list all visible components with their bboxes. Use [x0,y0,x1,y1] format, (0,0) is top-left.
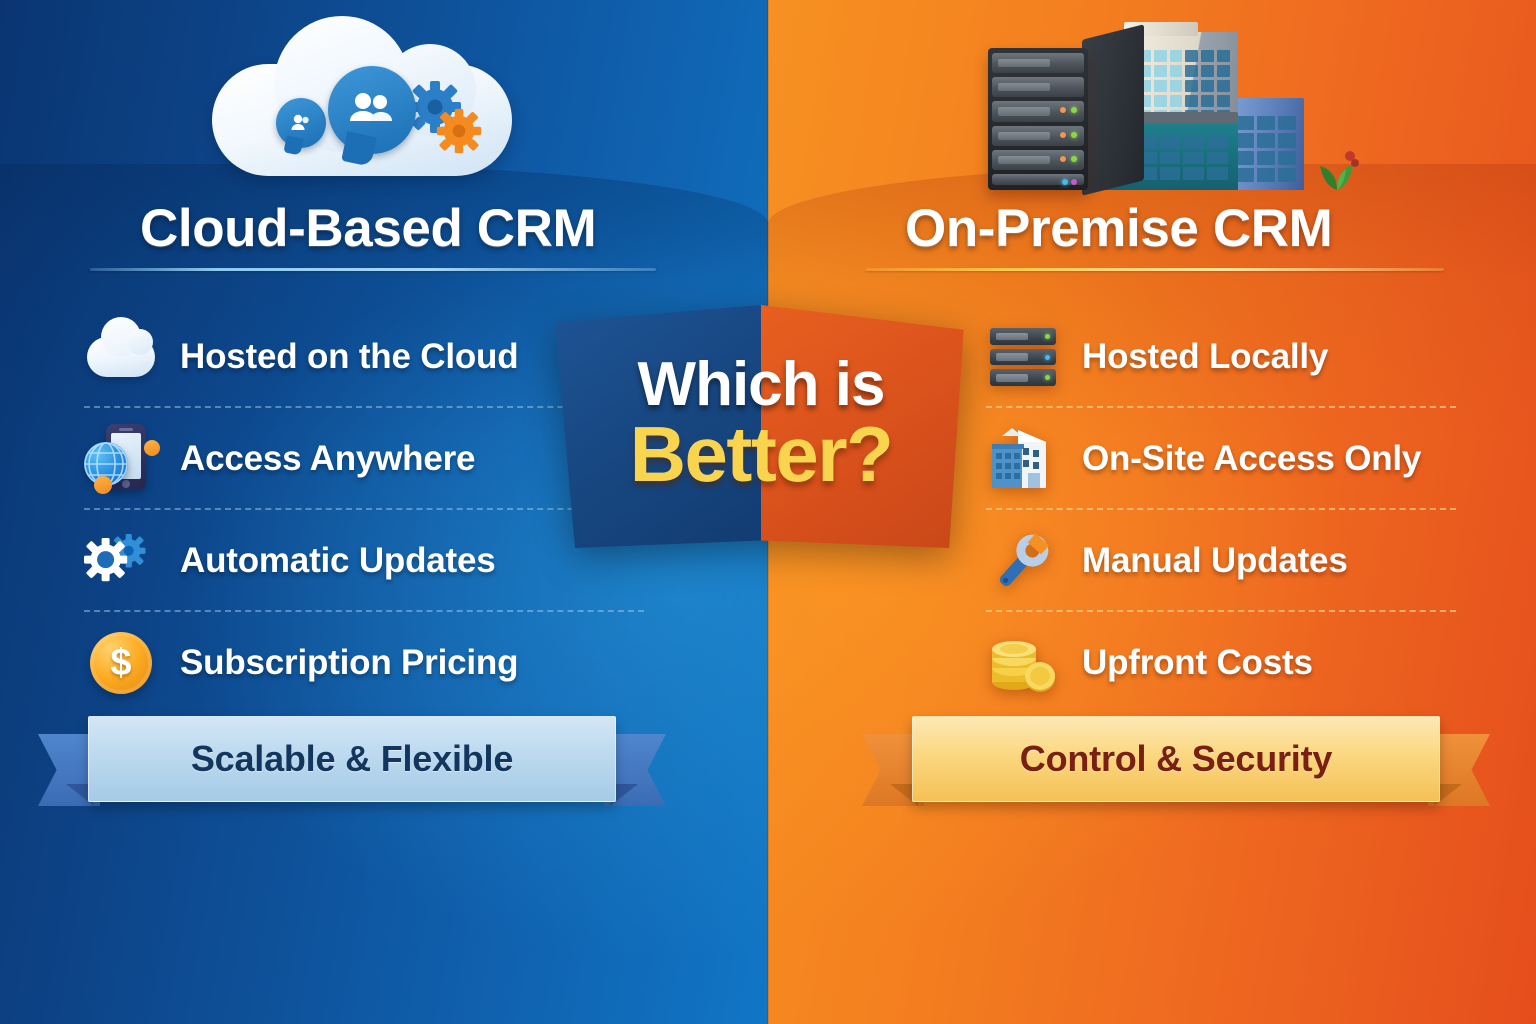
coin-stack-icon [986,626,1060,700]
ribbon-label: Control & Security [1020,738,1332,780]
blue-building-icon [1228,98,1304,190]
infographic-canvas: Cloud-Based CRM On-Premise CRM Hosted on… [0,0,1536,1024]
gears-icon [84,524,158,598]
feature-label: Subscription Pricing [180,643,518,683]
left-title-divider [90,268,656,271]
feature-label: Manual Updates [1082,541,1348,581]
right-feature-list: Hosted Locally [986,306,1456,714]
badge-line-2: Better? [630,418,893,491]
plant-icon [1310,138,1364,192]
right-column-title: On-Premise CRM [905,198,1332,259]
right-title-divider [866,268,1444,271]
feature-row-manual-updates[interactable]: Manual Updates [986,510,1456,612]
cloud-icon [84,320,158,394]
feature-row-subscription-pricing[interactable]: $ Subscription Pricing [84,612,644,714]
feature-label: Upfront Costs [1082,643,1313,683]
ribbon-label: Scalable & Flexible [191,738,513,780]
wrench-icon [986,524,1060,598]
feature-label: On-Site Access Only [1082,439,1421,479]
left-column-title: Cloud-Based CRM [140,198,596,259]
feature-row-upfront-costs[interactable]: Upfront Costs [986,612,1456,714]
office-building-icon [986,422,1060,496]
server-rack-hero-icon [988,48,1118,190]
feature-label: Automatic Updates [180,541,496,581]
badge-line-1: Which is [638,356,885,414]
ribbon-body: Control & Security [912,716,1440,802]
people-speech-bubble-icon [328,66,416,154]
which-is-better-badge: Which is Better? [552,300,970,548]
feature-row-on-site-access-only[interactable]: On-Site Access Only [986,408,1456,510]
feature-label: Access Anywhere [180,439,475,479]
on-premise-hero-illustration [980,22,1370,190]
cloud-hero-illustration [212,22,522,182]
gear-orange-icon [436,108,482,154]
left-ribbon-banner: Scalable & Flexible [88,716,616,802]
feature-row-hosted-locally[interactable]: Hosted Locally [986,306,1456,408]
user-speech-bubble-icon [276,98,326,148]
ribbon-body: Scalable & Flexible [88,716,616,802]
badge-text-group: Which is Better? [552,300,970,548]
dollar-coin-icon: $ [84,626,158,700]
globe-smartphone-icon [84,422,158,496]
feature-label: Hosted Locally [1082,337,1328,377]
right-ribbon-banner: Control & Security [912,716,1440,802]
server-rack-icon [986,320,1060,394]
feature-label: Hosted on the Cloud [180,337,518,377]
